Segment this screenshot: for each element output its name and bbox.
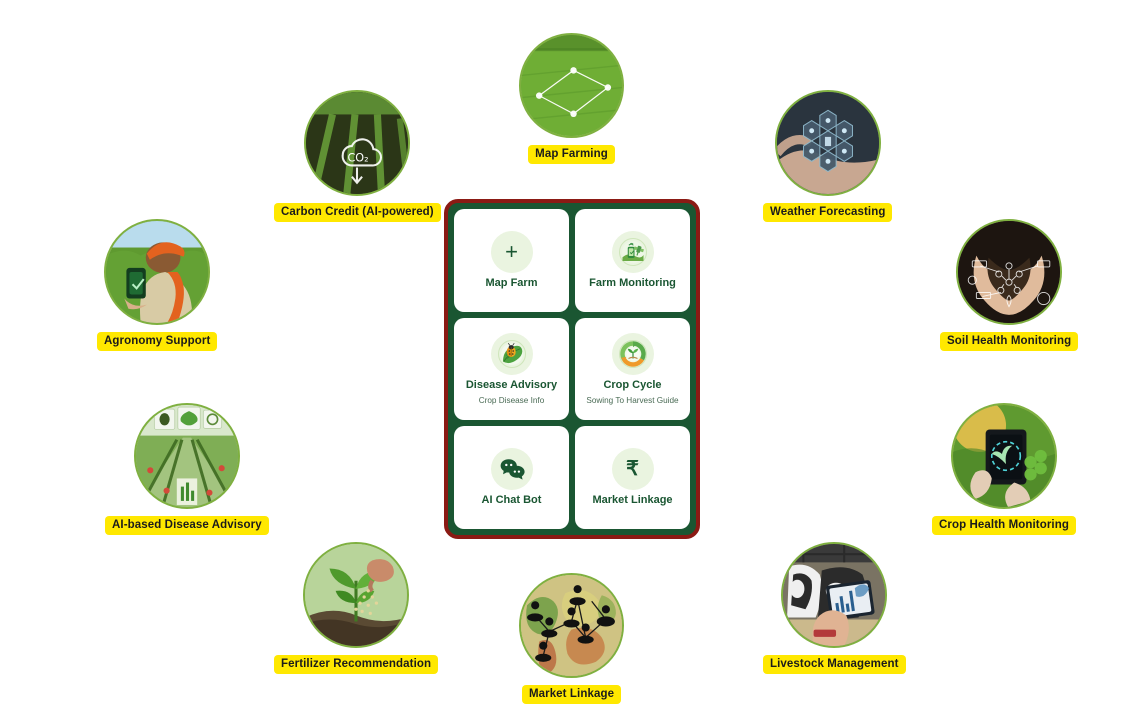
tile-farm-monitoring[interactable]: Farm Monitoring <box>575 209 690 312</box>
agri-sensor-hexagons-image <box>777 92 879 194</box>
ai-disease-advisory-thumbnail[interactable] <box>134 403 240 509</box>
plus-icon: + <box>491 231 533 273</box>
rupee-icon: ₹ <box>612 448 654 490</box>
feature-node-label: Soil Health Monitoring <box>940 332 1078 351</box>
feature-node-label: Crop Health Monitoring <box>932 516 1076 535</box>
feature-node-label: Fertilizer Recommendation <box>274 655 438 674</box>
feature-node-map-farming[interactable]: Map Farming <box>519 33 624 164</box>
leaf-bug-icon <box>491 333 533 375</box>
weather-forecasting-thumbnail[interactable] <box>775 90 881 196</box>
feature-map-canvas: Map Farming CO₂ Carb <box>0 0 1144 710</box>
feature-node-market-linkage[interactable]: Market Linkage <box>519 573 624 704</box>
svg-text:CO₂: CO₂ <box>348 151 369 164</box>
map-farming-thumbnail[interactable] <box>519 33 624 138</box>
feature-node-soil-health-monitoring[interactable]: Soil Health Monitoring <box>940 219 1078 351</box>
tile-title: Map Farm <box>486 277 538 290</box>
feature-node-label: Carbon Credit (AI-powered) <box>274 203 441 222</box>
tile-title: Crop Cycle <box>603 379 661 392</box>
feature-node-label: Weather Forecasting <box>763 203 892 222</box>
seedling-fertilizer-image <box>305 544 407 646</box>
market-linkage-thumbnail[interactable] <box>519 573 624 678</box>
feature-node-agronomy-support[interactable]: Agronomy Support <box>97 219 217 351</box>
feature-node-carbon-credit[interactable]: CO₂ Carbon Credit (AI-powered) <box>274 90 441 222</box>
tile-disease-advisory[interactable]: Disease Advisory Crop Disease Info <box>454 318 569 421</box>
tile-title: Disease Advisory <box>466 379 557 392</box>
satellite-phone-icon <box>612 231 654 273</box>
cattle-shed-tablet-image <box>783 544 885 646</box>
feature-node-livestock-management[interactable]: Livestock Management <box>763 542 906 674</box>
crop-rows-co2-image: CO₂ <box>306 92 408 194</box>
tile-title: Market Linkage <box>592 494 672 507</box>
tile-title: Farm Monitoring <box>589 277 676 290</box>
agronomy-support-thumbnail[interactable] <box>104 219 210 325</box>
feature-node-ai-disease-advisory[interactable]: AI-based Disease Advisory <box>105 403 269 535</box>
feature-node-label: AI-based Disease Advisory <box>105 516 269 535</box>
tile-subtitle: Crop Disease Info <box>479 396 545 405</box>
app-feature-panel: + Map Farm <box>444 199 700 539</box>
feature-node-weather-forecasting[interactable]: Weather Forecasting <box>763 90 892 222</box>
world-map-network-image <box>521 575 622 676</box>
feature-node-label: Map Farming <box>528 145 615 164</box>
crop-field-pest-scan-image <box>136 405 238 507</box>
tablet-scanning-crop-image <box>953 405 1055 507</box>
fertilizer-recommendation-thumbnail[interactable] <box>303 542 409 648</box>
soil-health-thumbnail[interactable] <box>956 219 1062 325</box>
feature-node-crop-health-monitoring[interactable]: Crop Health Monitoring <box>932 403 1076 535</box>
tile-title: AI Chat Bot <box>482 494 542 507</box>
crop-cycle-icon <box>612 333 654 375</box>
feature-node-label: Market Linkage <box>522 685 621 704</box>
chat-bubbles-icon <box>491 448 533 490</box>
farmer-with-phone-image <box>106 221 208 323</box>
feature-node-fertilizer-recommendation[interactable]: Fertilizer Recommendation <box>274 542 438 674</box>
livestock-management-thumbnail[interactable] <box>781 542 887 648</box>
feature-node-label: Livestock Management <box>763 655 906 674</box>
tile-map-farm[interactable]: + Map Farm <box>454 209 569 312</box>
tile-subtitle: Sowing To Harvest Guide <box>586 396 678 405</box>
crop-health-thumbnail[interactable] <box>951 403 1057 509</box>
hands-holding-soil-image <box>958 221 1060 323</box>
feature-node-label: Agronomy Support <box>97 332 217 351</box>
carbon-credit-thumbnail[interactable]: CO₂ <box>304 90 410 196</box>
tile-crop-cycle[interactable]: Crop Cycle Sowing To Harvest Guide <box>575 318 690 421</box>
tile-ai-chat-bot[interactable]: AI Chat Bot <box>454 426 569 529</box>
tile-market-linkage[interactable]: ₹ Market Linkage <box>575 426 690 529</box>
aerial-paddy-field-image <box>521 35 622 136</box>
